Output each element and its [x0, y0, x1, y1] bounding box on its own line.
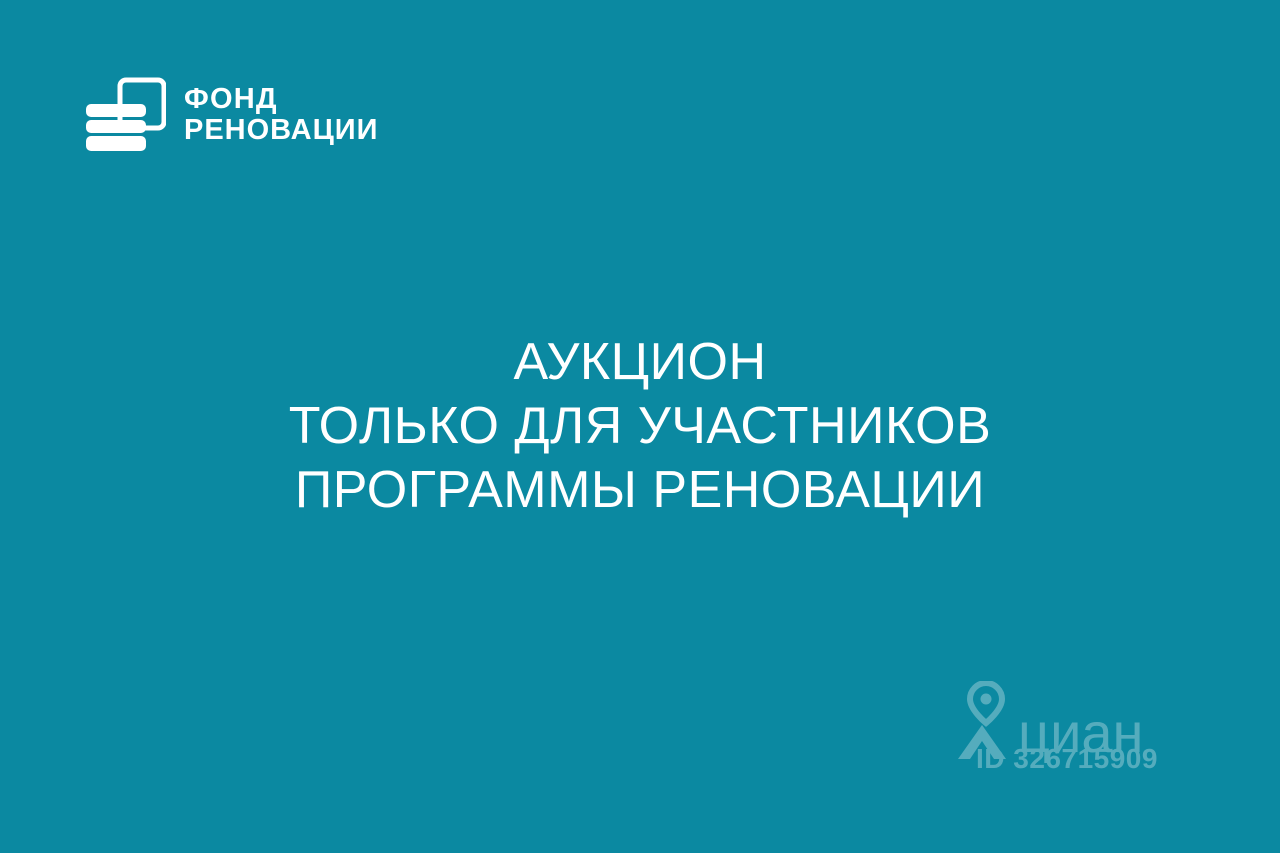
cian-wordmark: циан: [1018, 705, 1143, 761]
headline-line-1: АУКЦИОН: [0, 330, 1280, 394]
headline-block: АУКЦИОН ТОЛЬКО ДЛЯ УЧАСТНИКОВ ПРОГРАММЫ …: [0, 330, 1280, 522]
brand-lockup: ФОНД РЕНОВАЦИИ: [84, 72, 379, 156]
brand-name-line-1: ФОНД: [184, 84, 379, 115]
map-pin-icon: [952, 681, 1014, 761]
cian-logo: циан: [952, 681, 1143, 761]
brand-wordmark: ФОНД РЕНОВАЦИИ: [184, 82, 379, 145]
brand-name-line-2: РЕНОВАЦИИ: [184, 115, 379, 146]
cian-watermark: циан ID 326715909: [952, 681, 1172, 791]
cian-listing-id: ID 326715909: [976, 743, 1158, 775]
auction-banner: ФОНД РЕНОВАЦИИ АУКЦИОН ТОЛЬКО ДЛЯ УЧАСТН…: [0, 0, 1280, 853]
headline-line-3: ПРОГРАММЫ РЕНОВАЦИИ: [0, 458, 1280, 522]
headline-line-2: ТОЛЬКО ДЛЯ УЧАСТНИКОВ: [0, 394, 1280, 458]
fond-renovatsii-logo-icon: [84, 72, 166, 156]
